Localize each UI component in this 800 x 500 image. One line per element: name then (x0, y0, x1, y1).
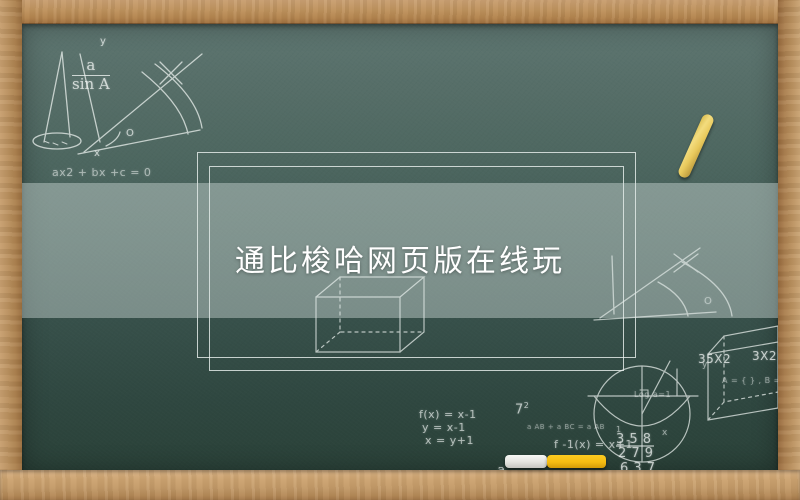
addition-addend-1: 3 5 8 (616, 432, 652, 447)
frame-left-rail (0, 0, 22, 500)
addition-addend-2: 2 7 9 (618, 446, 654, 461)
cone-right-edge (62, 52, 70, 137)
function-line-1: f(x) = x-1 (419, 408, 477, 421)
quadratic-equation: ax2 + bx +c = 0 (52, 166, 151, 179)
cone-base-hatch (44, 141, 67, 145)
set-formula: A = { } , B = { } , C = { } (722, 376, 778, 385)
chalkboard-surface: a sin A y x O ax2 + bx +c = 0 f(x) = x-1… (22, 24, 778, 472)
cone-base-ellipse (33, 133, 81, 149)
seven-squared: 72 (515, 401, 529, 417)
angle-mark-small (106, 132, 120, 146)
seven-exponent: 2 (524, 401, 530, 410)
axis-x-label-right: x (662, 428, 668, 438)
sphere-radius-line (642, 361, 670, 414)
axis-x-label-topleft: x (94, 148, 100, 159)
angle-arc-1 (142, 72, 188, 134)
function-line-2: y = x-1 (422, 421, 466, 434)
cone-left-edge (44, 52, 62, 142)
fraction-numerator: a (72, 58, 110, 74)
chalk-tray-lip (0, 491, 800, 500)
chalk-stick-yellow-tray[interactable] (547, 455, 606, 468)
chalkboard-banner: a sin A y x O ax2 + bx +c = 0 f(x) = x-1… (0, 0, 800, 500)
axis-y-label-right: y (702, 360, 708, 370)
fraction-denominator: sin A (72, 77, 110, 93)
log-label: Log a=1 (634, 390, 671, 399)
function-line-3: x = y+1 (425, 434, 474, 447)
multiply-expression-2: 3X2 (752, 349, 777, 363)
angle2-inner-arc (658, 282, 688, 316)
angle-label-topleft: O (126, 128, 134, 139)
seven-base: 7 (515, 402, 524, 417)
cube2-hidden-edges (724, 336, 778, 402)
frame-top-rail (0, 0, 800, 24)
angle-label-right: O (704, 296, 712, 307)
page-title: 通比梭哈网页版在线玩 (22, 236, 778, 280)
axis-y-label-topleft: y (100, 36, 106, 47)
fraction-a-over-sin-a-topleft: a sin A (72, 58, 110, 93)
frame-right-rail (778, 0, 800, 500)
chalk-stick-white-tray[interactable] (505, 455, 547, 468)
small-formula-ab: a AB + a BC = a AB (527, 423, 605, 431)
